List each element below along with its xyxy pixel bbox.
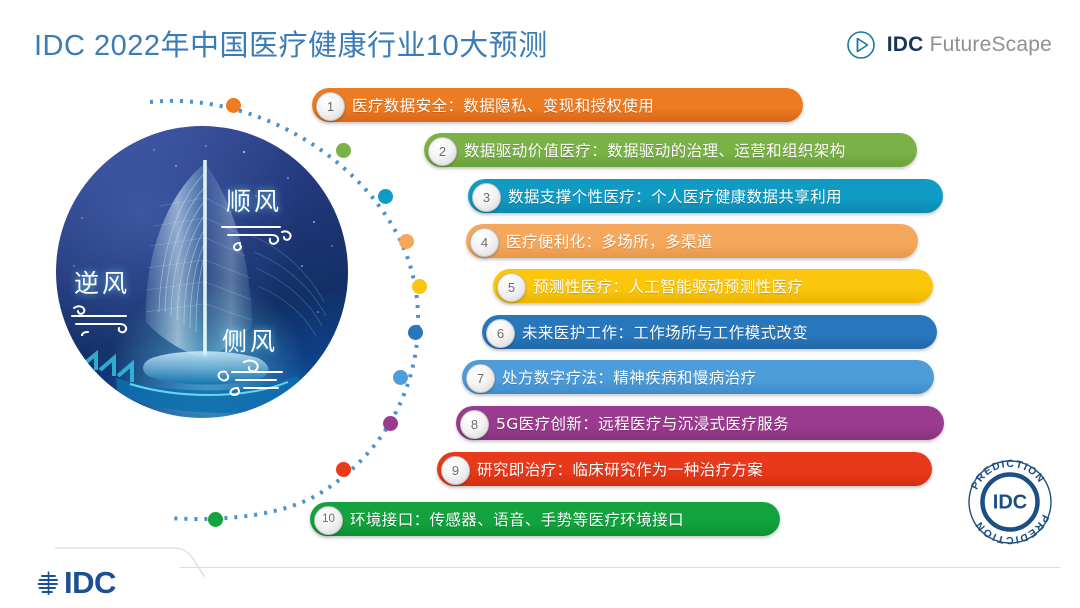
prediction-row-10[interactable]: 10 环境接口：传感器、语音、手势等医疗环境接口 <box>215 502 780 536</box>
brand-futurescape: IDC FutureScape <box>846 30 1052 60</box>
prediction-bar-2[interactable]: 2 数据驱动价值医疗：数据驱动的治理、运营和组织架构 <box>424 133 917 167</box>
play-circle-icon <box>846 30 876 60</box>
sailboat-circle-image: 顺风 逆风 侧风 <box>56 126 348 418</box>
prediction-row-4[interactable]: 4 医疗便利化：多场所，多渠道 <box>406 224 918 258</box>
prediction-label-8: 5G医疗创新：远程医疗与沉浸式医疗服务 <box>496 406 789 440</box>
slide-canvas: IDC 2022年中国医疗健康行业10大预测 IDC FutureScape <box>0 0 1080 608</box>
prediction-bar-6[interactable]: 6 未来医护工作：工作场所与工作模式改变 <box>482 315 937 349</box>
arc-node-9 <box>336 462 351 477</box>
hero-label-headwind: 逆风 <box>74 264 130 300</box>
brand-futurescape-label: FutureScape <box>930 33 1052 56</box>
prediction-bar-10[interactable]: 10 环境接口：传感器、语音、手势等医疗环境接口 <box>310 502 780 536</box>
prediction-row-8[interactable]: 8 5G医疗创新：远程医疗与沉浸式医疗服务 <box>390 406 944 440</box>
prediction-number-5: 5 <box>497 273 526 302</box>
prediction-number-8: 8 <box>460 410 489 439</box>
prediction-number-4: 4 <box>470 228 499 257</box>
arc-node-1 <box>226 98 241 113</box>
prediction-label-7: 处方数字疗法：精神疾病和慢病治疗 <box>502 360 756 394</box>
prediction-row-3[interactable]: 3 数据支撑个性医疗：个人医疗健康数据共享利用 <box>385 179 943 213</box>
prediction-bar-9[interactable]: 9 研究即治疗：临床研究作为一种治疗方案 <box>437 452 932 486</box>
arc-node-8 <box>383 416 398 431</box>
arc-node-7 <box>393 370 408 385</box>
wind-swirl-icon <box>68 302 146 336</box>
footer-idc-label: IDC <box>64 567 116 598</box>
prediction-row-5[interactable]: 5 预测性医疗：人工智能驱动预测性医疗 <box>419 269 933 303</box>
hero-label-tailwind: 顺风 <box>226 182 282 218</box>
prediction-bar-7[interactable]: 7 处方数字疗法：精神疾病和慢病治疗 <box>462 360 934 394</box>
footer-divider <box>180 567 1060 568</box>
wind-swirl-icon <box>214 358 296 396</box>
seal-center-label: IDC <box>993 492 1027 514</box>
prediction-row-1[interactable]: 1 医疗数据安全：数据隐私、变现和授权使用 <box>233 88 803 122</box>
prediction-label-3: 数据支撑个性医疗：个人医疗健康数据共享利用 <box>508 179 842 213</box>
prediction-number-3: 3 <box>472 183 501 212</box>
wind-swirl-icon <box>218 218 296 252</box>
prediction-label-6: 未来医护工作：工作场所与工作模式改变 <box>522 315 808 349</box>
footer-idc-logo: IDC <box>36 567 116 598</box>
arc-node-6 <box>408 325 423 340</box>
arc-node-2 <box>336 143 351 158</box>
arc-node-3 <box>378 189 393 204</box>
arc-node-5 <box>412 279 427 294</box>
prediction-number-2: 2 <box>428 137 457 166</box>
hero-label-crosswind: 侧风 <box>222 322 278 358</box>
prediction-number-7: 7 <box>466 364 495 393</box>
prediction-bar-3[interactable]: 3 数据支撑个性医疗：个人医疗健康数据共享利用 <box>468 179 943 213</box>
prediction-label-9: 研究即治疗：临床研究作为一种治疗方案 <box>477 452 763 486</box>
prediction-bar-8[interactable]: 8 5G医疗创新：远程医疗与沉浸式医疗服务 <box>456 406 944 440</box>
prediction-label-1: 医疗数据安全：数据隐私、变现和授权使用 <box>352 88 654 122</box>
prediction-bar-4[interactable]: 4 医疗便利化：多场所，多渠道 <box>466 224 918 258</box>
prediction-number-6: 6 <box>486 319 515 348</box>
prediction-number-10: 10 <box>314 506 343 535</box>
prediction-label-5: 预测性医疗：人工智能驱动预测性医疗 <box>533 269 803 303</box>
prediction-row-2[interactable]: 2 数据驱动价值医疗：数据驱动的治理、运营和组织架构 <box>343 133 917 167</box>
prediction-row-7[interactable]: 7 处方数字疗法：精神疾病和慢病治疗 <box>400 360 934 394</box>
prediction-row-9[interactable]: 9 研究即治疗：临床研究作为一种治疗方案 <box>343 452 932 486</box>
prediction-label-10: 环境接口：传感器、语音、手势等医疗环境接口 <box>350 502 684 536</box>
globe-icon <box>36 570 62 596</box>
arc-node-4 <box>399 234 414 249</box>
brand-text: IDC FutureScape <box>887 33 1052 57</box>
prediction-number-9: 9 <box>441 456 470 485</box>
prediction-bar-5[interactable]: 5 预测性医疗：人工智能驱动预测性医疗 <box>493 269 933 303</box>
prediction-label-4: 医疗便利化：多场所，多渠道 <box>506 224 713 258</box>
prediction-row-6[interactable]: 6 未来医护工作：工作场所与工作模式改变 <box>415 315 937 349</box>
prediction-label-2: 数据驱动价值医疗：数据驱动的治理、运营和组织架构 <box>464 133 846 167</box>
prediction-seal-badge: PREDICTION PREDICTION IDC <box>964 456 1056 548</box>
arc-node-10 <box>208 512 223 527</box>
page-title: IDC 2022年中国医疗健康行业10大预测 <box>34 22 548 64</box>
prediction-bar-1[interactable]: 1 医疗数据安全：数据隐私、变现和授权使用 <box>312 88 803 122</box>
brand-idc-label: IDC <box>887 33 924 56</box>
prediction-number-1: 1 <box>316 92 345 121</box>
